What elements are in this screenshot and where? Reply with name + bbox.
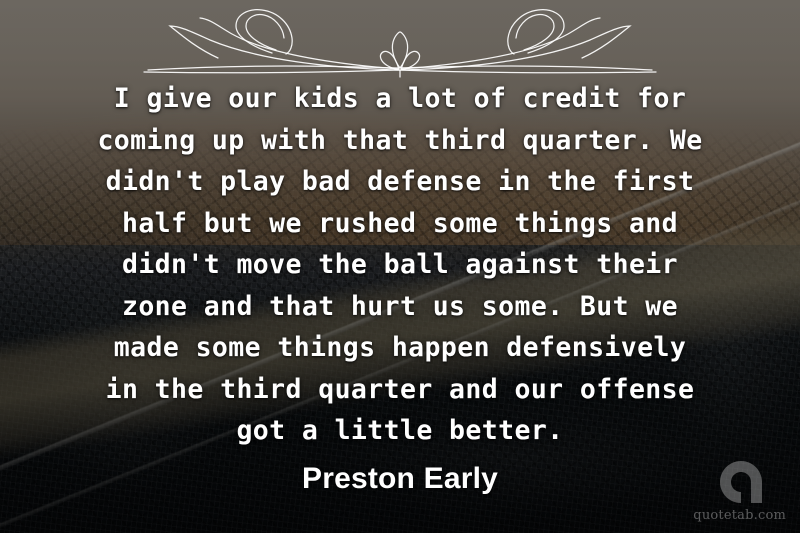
quote-image-card: I give our kids a lot of credit for comi… bbox=[0, 0, 800, 533]
brand-site-label[interactable]: quotetab.com bbox=[693, 508, 786, 523]
brand-watermark[interactable]: quotetab.com bbox=[690, 459, 786, 525]
card-content: I give our kids a lot of credit for comi… bbox=[0, 0, 800, 533]
quotetab-q-logo-icon bbox=[718, 459, 764, 505]
flourish-ornament-icon bbox=[140, 4, 660, 82]
quote-author[interactable]: Preston Early bbox=[0, 462, 800, 496]
quote-text: I give our kids a lot of credit for comi… bbox=[30, 78, 770, 452]
